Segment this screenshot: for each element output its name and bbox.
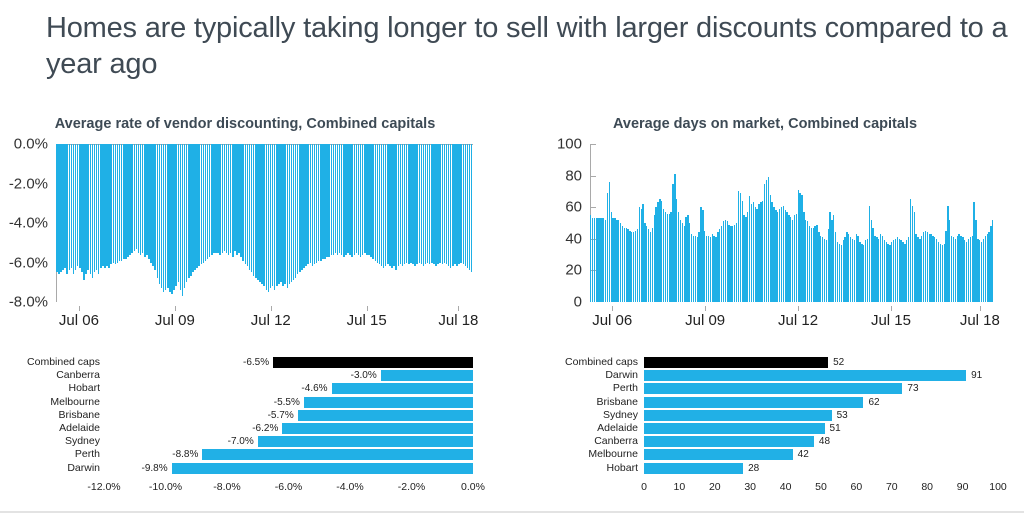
bar-row: Sydney53 — [520, 409, 1024, 422]
bar-row: Adelaide-6.2% — [0, 422, 500, 435]
x-tick-label: Jul 06 — [59, 312, 99, 329]
bar-row: Darwin91 — [520, 369, 1024, 382]
x-tick-label: 10 — [674, 481, 686, 493]
panel-days-on-market-timeseries: Average days on market, Combined capital… — [520, 116, 1024, 332]
y-tick-label: 0 — [574, 294, 582, 311]
y-tick-label: 0.0% — [14, 136, 48, 153]
y-tick-label: -6.0% — [9, 254, 48, 271]
y-tick-mark — [590, 176, 596, 177]
x-tick-label: Jul 18 — [438, 312, 478, 329]
bar-category-label: Sydney — [0, 435, 100, 448]
y-tick-label: 20 — [565, 262, 582, 279]
bar — [644, 463, 743, 474]
x-tick-mark — [367, 306, 368, 311]
x-tick-mark — [798, 306, 799, 311]
bar-category-label: Melbourne — [520, 448, 638, 461]
x-tick-label: 0.0% — [461, 481, 485, 493]
bar — [471, 144, 473, 272]
x-tick-label: 100 — [989, 481, 1007, 493]
x-tick-mark — [271, 306, 272, 311]
bar — [644, 357, 828, 368]
bar — [258, 436, 473, 447]
y-tick-label: -8.0% — [9, 294, 48, 311]
bar — [644, 397, 863, 408]
x-tick-mark — [612, 306, 613, 311]
x-tick-label: 0 — [641, 481, 647, 493]
x-tick-label: 90 — [957, 481, 969, 493]
y-axis-labels-days-on-market: 100806040200 — [520, 144, 588, 302]
x-tick-label: -10.0% — [149, 481, 182, 493]
timeseries-vendor-discounting: 0.0%-2.0%-4.0%-6.0%-8.0% Jul 06Jul 09Jul… — [0, 144, 500, 302]
bar-row: Brisbane-5.7% — [0, 409, 500, 422]
bar — [644, 436, 814, 447]
bar — [273, 357, 473, 368]
x-tick-label: Jul 09 — [685, 312, 725, 329]
x-tick-label: Jul 12 — [251, 312, 291, 329]
bar-value-label: 42 — [798, 448, 809, 461]
bar-category-label: Adelaide — [0, 422, 100, 435]
bar-category-label: Canberra — [520, 435, 638, 448]
timeseries-days-on-market: 100806040200 Jul 06Jul 09Jul 12Jul 15Jul… — [520, 144, 1024, 302]
bar-row: Combined caps52 — [520, 356, 1024, 369]
bar-row: Hobart-4.6% — [0, 382, 500, 395]
y-tick-mark — [590, 144, 596, 145]
bar-value-label: 62 — [868, 396, 879, 409]
bar — [282, 423, 473, 434]
bar-value-label: -6.5% — [235, 356, 269, 369]
bar — [381, 370, 473, 381]
x-tick-label: Jul 15 — [871, 312, 911, 329]
bar-value-label: -9.8% — [134, 462, 168, 475]
chart-title-vendor-discounting: Average rate of vendor discounting, Comb… — [0, 116, 490, 132]
y-axis-labels-vendor-discounting: 0.0%-2.0%-4.0%-6.0%-8.0% — [0, 144, 54, 302]
bar-value-label: 28 — [748, 462, 759, 475]
bar-value-label: -4.6% — [294, 382, 328, 395]
y-tick-label: 100 — [557, 136, 582, 153]
y-tick-label: -4.0% — [9, 215, 48, 232]
bar-row: Darwin-9.8% — [0, 462, 500, 475]
bar-row: Brisbane62 — [520, 396, 1024, 409]
x-tick-mark — [891, 306, 892, 311]
page-title: Homes are typically taking longer to sel… — [46, 10, 1011, 82]
bar-row: Perth73 — [520, 382, 1024, 395]
bar — [992, 220, 993, 302]
x-tick-label: Jul 12 — [778, 312, 818, 329]
bar-value-label: 91 — [971, 369, 982, 382]
bar-value-label: 53 — [837, 409, 848, 422]
bar-category-label: Canberra — [0, 369, 100, 382]
bar-category-label: Darwin — [0, 462, 100, 475]
panel-vendor-discounting-timeseries: Average rate of vendor discounting, Comb… — [0, 116, 500, 332]
barchart-vendor-discounting-by-city: Combined caps-6.5%Canberra-3.0%Hobart-4.… — [0, 356, 500, 501]
bar-value-label: -7.0% — [220, 435, 254, 448]
bar-category-label: Brisbane — [520, 396, 638, 409]
bar-row: Melbourne-5.5% — [0, 396, 500, 409]
bar — [172, 463, 473, 474]
y-tick-mark — [590, 207, 596, 208]
barchart-days-on-market-by-city: Combined caps52Darwin91Perth73Brisbane62… — [520, 356, 1024, 501]
bar-value-label: -6.2% — [244, 422, 278, 435]
x-tick-label: -8.0% — [213, 481, 240, 493]
bar-category-label: Hobart — [0, 382, 100, 395]
x-tick-mark — [705, 306, 706, 311]
chart-title-days-on-market: Average days on market, Combined capital… — [520, 116, 1010, 132]
bar-row: Perth-8.8% — [0, 448, 500, 461]
bar-row: Adelaide51 — [520, 422, 1024, 435]
y-tick-label: 40 — [565, 230, 582, 247]
bar — [644, 449, 793, 460]
plot-area-vendor-discounting — [56, 144, 473, 302]
x-tick-label: -6.0% — [275, 481, 302, 493]
bar-row: Sydney-7.0% — [0, 435, 500, 448]
bar-value-label: -8.8% — [164, 448, 198, 461]
x-tick-label: -2.0% — [398, 481, 425, 493]
x-tick-label: Jul 18 — [960, 312, 1000, 329]
bar-category-label: Brisbane — [0, 409, 100, 422]
x-tick-label: 70 — [886, 481, 898, 493]
bar-category-label: Adelaide — [520, 422, 638, 435]
bar-category-label: Hobart — [520, 462, 638, 475]
bar-category-label: Perth — [0, 448, 100, 461]
x-tick-label: -12.0% — [87, 481, 120, 493]
bar — [644, 410, 832, 421]
y-tick-label: 80 — [565, 167, 582, 184]
bar-value-label: 73 — [907, 382, 918, 395]
bar-value-label: 52 — [833, 356, 844, 369]
x-tick-label: 80 — [921, 481, 933, 493]
plot-area-days-on-market — [590, 144, 994, 302]
x-tick-label: 50 — [815, 481, 827, 493]
x-tick-label: 20 — [709, 481, 721, 493]
bar — [332, 383, 473, 394]
x-tick-label: Jul 15 — [347, 312, 387, 329]
bar-category-label: Sydney — [520, 409, 638, 422]
x-tick-label: 30 — [744, 481, 756, 493]
x-tick-label: Jul 06 — [592, 312, 632, 329]
y-tick-label: -2.0% — [9, 175, 48, 192]
bar-category-label: Combined caps — [520, 356, 638, 369]
bar — [304, 397, 473, 408]
x-tick-mark — [175, 306, 176, 311]
x-tick-mark — [79, 306, 80, 311]
x-tick-label: -4.0% — [336, 481, 363, 493]
bar — [644, 423, 825, 434]
bar-row: Canberra-3.0% — [0, 369, 500, 382]
x-tick-label: Jul 09 — [155, 312, 195, 329]
bar-row: Hobart28 — [520, 462, 1024, 475]
bar — [644, 370, 966, 381]
bar — [202, 449, 473, 460]
x-tick-label: 60 — [851, 481, 863, 493]
bar — [298, 410, 473, 421]
bar-value-label: -5.7% — [260, 409, 294, 422]
bar-value-label: 51 — [830, 422, 841, 435]
bar-row: Melbourne42 — [520, 448, 1024, 461]
bar-category-label: Darwin — [520, 369, 638, 382]
bar-row: Canberra48 — [520, 435, 1024, 448]
bar-category-label: Perth — [520, 382, 638, 395]
x-tick-label: 40 — [780, 481, 792, 493]
x-tick-mark — [458, 306, 459, 311]
bar-category-label: Combined caps — [0, 356, 100, 369]
bar-value-label: -3.0% — [343, 369, 377, 382]
bar-row: Combined caps-6.5% — [0, 356, 500, 369]
x-tick-mark — [980, 306, 981, 311]
y-tick-label: 60 — [565, 199, 582, 216]
bar — [644, 383, 902, 394]
bar-category-label: Melbourne — [0, 396, 100, 409]
bar-value-label: 48 — [819, 435, 830, 448]
bar-value-label: -5.5% — [266, 396, 300, 409]
